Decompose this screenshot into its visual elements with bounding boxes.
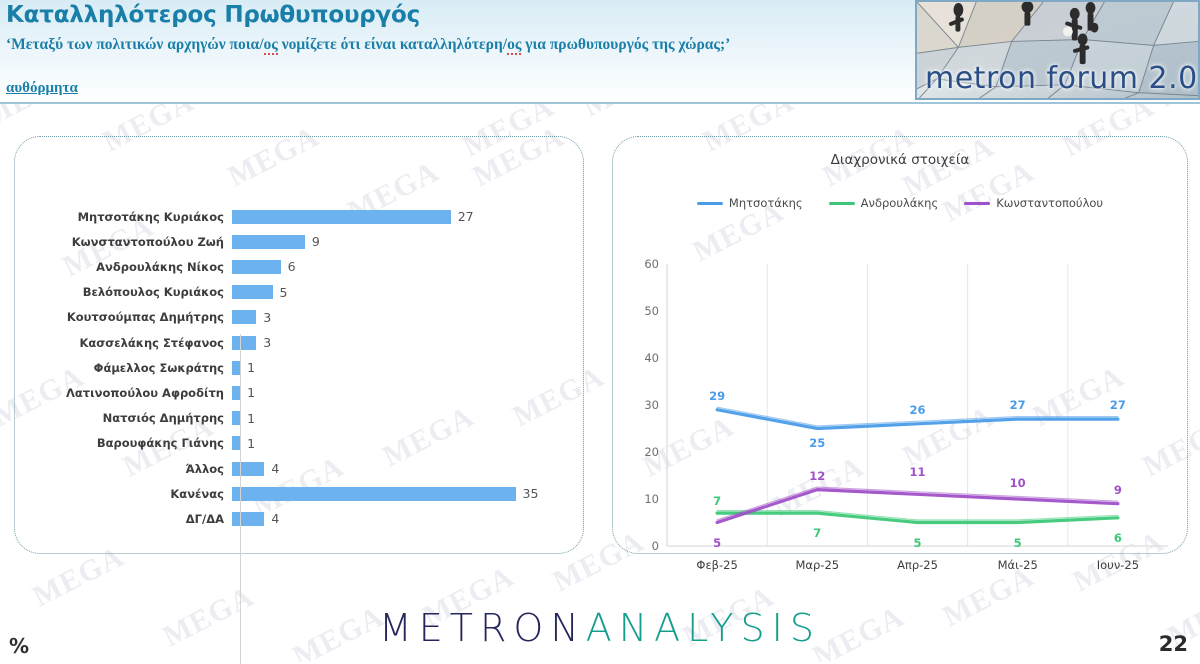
- header-divider: [0, 102, 1200, 104]
- bar-fill: [232, 462, 264, 476]
- question-spellcheck-1: ος: [264, 36, 278, 55]
- bar-category-label: Μητσοτάκης Κυριάκος: [14, 210, 232, 224]
- bar-chart-row: Ανδρουλάκης Νίκος6: [14, 254, 584, 279]
- legend-swatch: [829, 202, 855, 205]
- bar-track: 1: [232, 431, 584, 456]
- line-chart-plot: 0102030405060Φεβ-25Μαρ-25Απρ-25Μάι-25Ιου…: [612, 216, 1188, 554]
- x-axis-tick: Μαρ-25: [796, 558, 840, 572]
- percent-symbol: %: [9, 634, 29, 658]
- bar-fill: [232, 411, 240, 425]
- bar-value-label: 9: [312, 234, 320, 249]
- bar-category-label: ΔΓ/ΔΑ: [14, 512, 232, 526]
- legend-label: Κωνσταντοπούλου: [996, 196, 1103, 210]
- bar-track: 3: [232, 305, 584, 330]
- data-point-label: 9: [1114, 483, 1122, 497]
- legend-item[interactable]: Μητσοτάκης: [697, 196, 803, 210]
- bar-track: 35: [232, 481, 584, 506]
- logo-metron: METRON: [379, 606, 586, 650]
- data-point-label: 5: [713, 536, 721, 550]
- y-axis-tick: 40: [625, 351, 659, 365]
- bar-chart-row: Βελόπουλος Κυριάκος5: [14, 280, 584, 305]
- metron-forum-logo: metron forum 2.0: [915, 0, 1200, 100]
- bar-fill: [232, 235, 305, 249]
- bar-value-label: 1: [247, 385, 255, 400]
- y-axis-tick: 20: [625, 445, 659, 459]
- data-point-label: 12: [809, 469, 825, 483]
- bar-chart-row: Κουτσούμπας Δημήτρης3: [14, 305, 584, 330]
- bar-track: 9: [232, 229, 584, 254]
- bar-track: 4: [232, 506, 584, 531]
- page-number: 22: [1159, 632, 1188, 656]
- metron-analysis-logo: METRONANALYSIS: [0, 606, 1200, 650]
- question-text: ‘Μεταξύ των πολιτικών αρχηγών ποια/ος νο…: [6, 34, 866, 56]
- question-text-part2: νομίζετε ότι είναι καταλληλότερη/: [278, 36, 507, 53]
- bar-value-label: 35: [523, 486, 539, 501]
- bar-category-label: Κωνσταντοπούλου Ζωή: [14, 235, 232, 249]
- bar-fill: [232, 310, 256, 324]
- bar-chart-row: Άλλος4: [14, 456, 584, 481]
- bar-chart-row: Φάμελλος Σωκράτης1: [14, 355, 584, 380]
- bar-track: 3: [232, 330, 584, 355]
- bar-value-label: 5: [280, 285, 288, 300]
- spontaneous-note: αυθόρμητα: [6, 80, 78, 97]
- data-point-label: 6: [1114, 531, 1122, 545]
- bar-track: 1: [232, 355, 584, 380]
- bar-category-label: Κασσελάκης Στέφανος: [14, 336, 232, 350]
- bar-fill: [232, 260, 281, 274]
- logo-analysis: ANALYSIS: [586, 606, 821, 650]
- page-title: Καταλληλότερος Πρωθυπουργός: [6, 2, 420, 28]
- bar-category-label: Άλλος: [14, 462, 232, 476]
- y-axis-tick: 0: [625, 539, 659, 553]
- bar-chart-row: ΔΓ/ΔΑ4: [14, 506, 584, 531]
- y-axis-tick: 60: [625, 257, 659, 271]
- bar-fill: [232, 336, 256, 350]
- data-point-label: 26: [909, 403, 925, 417]
- bar-chart-row: Βαρουφάκης Γιάνης1: [14, 431, 584, 456]
- question-spellcheck-2: ος: [507, 36, 521, 55]
- bar-value-label: 1: [247, 436, 255, 451]
- bar-category-label: Φάμελλος Σωκράτης: [14, 361, 232, 375]
- legend-item[interactable]: Κωνσταντοπούλου: [964, 196, 1103, 210]
- x-axis-tick: Μάι-25: [998, 558, 1038, 572]
- bar-track: 5: [232, 280, 584, 305]
- bar-value-label: 4: [271, 511, 279, 526]
- bar-category-label: Ανδρουλάκης Νίκος: [14, 260, 232, 274]
- bar-value-label: 27: [458, 209, 474, 224]
- bar-value-label: 4: [271, 461, 279, 476]
- bar-chart-row: Μητσοτάκης Κυριάκος27: [14, 204, 584, 229]
- bar-chart-row: Κωνσταντοπούλου Ζωή9: [14, 229, 584, 254]
- legend-swatch: [964, 202, 990, 205]
- data-point-label: 27: [1010, 398, 1026, 412]
- y-axis-tick: 10: [625, 492, 659, 506]
- question-text-part1: ‘Μεταξύ των πολιτικών αρχηγών ποια/: [6, 36, 264, 53]
- bar-value-label: 1: [247, 360, 255, 375]
- bar-category-label: Βελόπουλος Κυριάκος: [14, 285, 232, 299]
- bar-fill: [232, 386, 240, 400]
- legend-label: Ανδρουλάκης: [861, 196, 939, 210]
- data-point-label: 5: [1014, 536, 1022, 550]
- bar-track: 4: [232, 456, 584, 481]
- bar-fill: [232, 436, 240, 450]
- y-axis-tick: 50: [625, 304, 659, 318]
- legend-label: Μητσοτάκης: [729, 196, 803, 210]
- bar-value-label: 3: [263, 335, 271, 350]
- bar-category-label: Λατινοπούλου Αφροδίτη: [14, 386, 232, 400]
- x-axis-tick: Ιουν-25: [1097, 558, 1139, 572]
- bar-track: 27: [232, 204, 584, 229]
- line-chart-svg: [612, 216, 1188, 554]
- x-axis-tick: Φεβ-25: [696, 558, 737, 572]
- bar-chart-row: Νατσιός Δημήτρης1: [14, 406, 584, 431]
- data-point-label: 29: [709, 389, 725, 403]
- legend-swatch: [697, 202, 723, 205]
- data-point-label: 7: [813, 526, 821, 540]
- bar-chart-row: Κανένας35: [14, 481, 584, 506]
- question-text-part3: για πρωθυπουργός της χώρας;’: [521, 36, 730, 53]
- bar-category-label: Κουτσούμπας Δημήτρης: [14, 310, 232, 324]
- legend-item[interactable]: Ανδρουλάκης: [829, 196, 939, 210]
- metron-forum-logo-text: metron forum 2.0: [925, 61, 1198, 96]
- bar-chart: Μητσοτάκης Κυριάκος27Κωνσταντοπούλου Ζωή…: [14, 136, 584, 554]
- line-chart-legend: ΜητσοτάκηςΑνδρουλάκηςΚωνσταντοπούλου: [612, 196, 1188, 210]
- bar-value-label: 6: [288, 259, 296, 274]
- bar-fill: [232, 285, 273, 299]
- data-point-label: 25: [809, 436, 825, 450]
- line-chart-title: Διαχρονικά στοιχεία: [612, 152, 1188, 168]
- bar-track: 1: [232, 380, 584, 405]
- bar-value-label: 1: [247, 411, 255, 426]
- bar-fill: [232, 210, 451, 224]
- bar-fill: [232, 512, 264, 526]
- bar-chart-row: Λατινοπούλου Αφροδίτη1: [14, 380, 584, 405]
- bar-value-label: 3: [263, 310, 271, 325]
- bar-category-label: Νατσιός Δημήτρης: [14, 411, 232, 425]
- x-axis-tick: Απρ-25: [897, 558, 938, 572]
- bar-category-label: Κανένας: [14, 487, 232, 501]
- data-point-label: 7: [713, 494, 721, 508]
- bar-track: 6: [232, 254, 584, 279]
- bar-track: 1: [232, 406, 584, 431]
- bar-category-label: Βαρουφάκης Γιάνης: [14, 436, 232, 450]
- data-point-label: 27: [1110, 398, 1126, 412]
- bar-fill: [232, 487, 516, 501]
- data-point-label: 11: [909, 465, 925, 479]
- data-point-label: 5: [913, 536, 921, 550]
- bar-chart-row: Κασσελάκης Στέφανος3: [14, 330, 584, 355]
- bar-fill: [232, 361, 240, 375]
- data-point-label: 10: [1010, 476, 1026, 490]
- y-axis-tick: 30: [625, 398, 659, 412]
- line-chart: Διαχρονικά στοιχεία ΜητσοτάκηςΑνδρουλάκη…: [612, 136, 1188, 554]
